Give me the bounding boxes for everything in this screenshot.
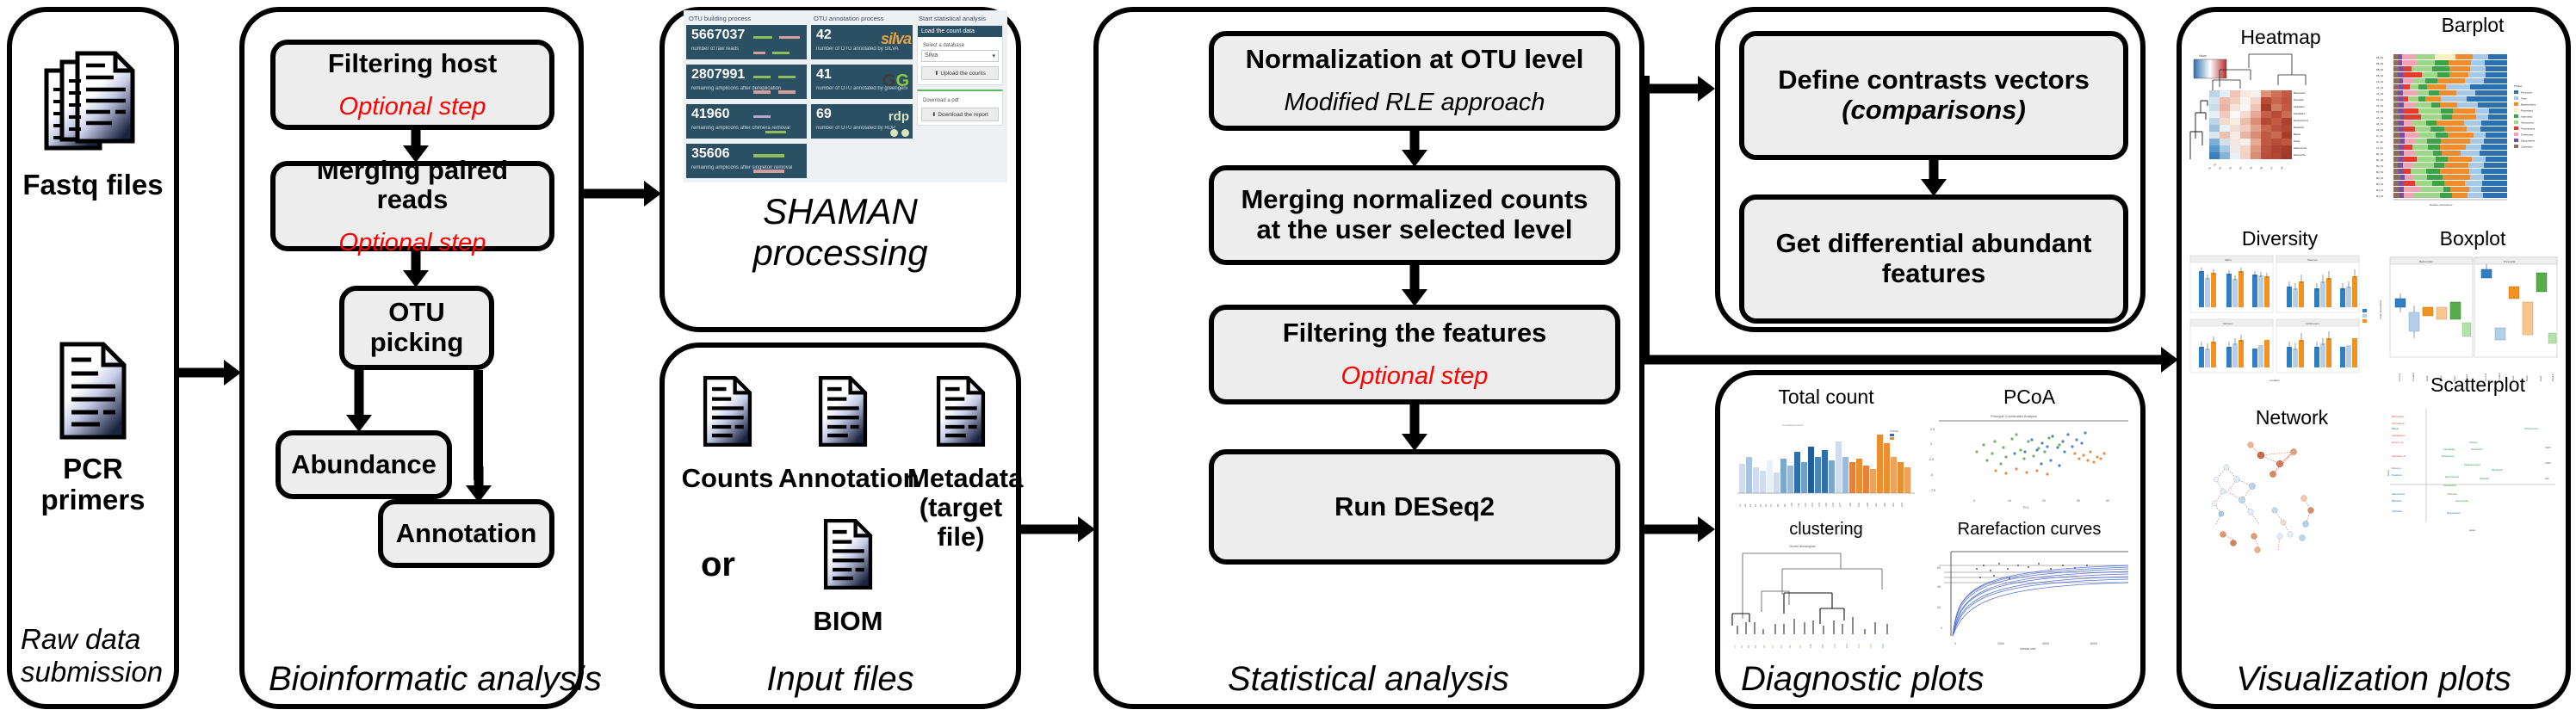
svg-text:Phylum: Phylum (2514, 84, 2523, 88)
svg-text:s13: s13 (1811, 503, 1814, 507)
svg-text:Bacteroides: Bacteroides (2392, 415, 2404, 418)
shaman-tile-bars (753, 70, 802, 101)
box-filtering-features-sub: Optional step (1341, 362, 1489, 390)
shaman-upload-button[interactable]: ⬆ Upload the counts (921, 66, 999, 80)
diagnostic-caption: Diagnostic plots (1720, 660, 2140, 699)
arrow-inputs-to-statistical (1021, 516, 1095, 542)
svg-text:TR_S2: TR_S2 (2376, 104, 2384, 108)
plot-clustering: clustering Cluster dendrogram (1731, 520, 1922, 657)
plot-total-count-title: Total count (1731, 386, 1922, 409)
plot-heatmap-title: Heatmap (2189, 26, 2373, 49)
plot-barplot-title: Barplot (2375, 14, 2571, 37)
svg-text:Akkermansia: Akkermansia (2294, 146, 2307, 150)
svg-text:s9: s9 (1783, 504, 1786, 508)
svg-text:s1: s1 (2208, 165, 2212, 170)
svg-text:Roseburia: Roseburia (2392, 473, 2402, 477)
shaman-tile: 2807991 remaining amplicons after derepl… (686, 65, 807, 99)
shaman-tile: 35606 remaining amplicons after singleto… (686, 144, 807, 178)
svg-text:Parabacteroides: Parabacteroides (2464, 463, 2481, 466)
shaman-screenshot: OTU building process 5667037 number of r… (684, 10, 1007, 182)
svg-text:PC1: PC1 (2023, 506, 2029, 509)
shaman-tile: 69 number of OTU annotated by RDP rdp (811, 104, 913, 139)
svg-text:M4_S1: M4_S1 (2376, 188, 2384, 192)
svg-text:s15: s15 (1869, 644, 1873, 648)
svg-text:Dorea: Dorea (2294, 139, 2300, 143)
fastq-files-label: Fastq files (12, 170, 174, 201)
svg-text:s1: s1 (1733, 645, 1737, 649)
svg-text:6000: 6000 (2090, 642, 2097, 645)
svg-text:Collinsella: Collinsella (2392, 509, 2402, 513)
shaman-download-panel: Download a pdf ⬇ Download the report (917, 89, 1003, 126)
box-annotation[interactable]: Annotation (378, 499, 554, 568)
svg-text:CAP1: CAP1 (2545, 446, 2551, 449)
plot-rarefaction: Rarefaction curves (1922, 520, 2137, 657)
svg-text:CK_S3: CK_S3 (2376, 92, 2384, 96)
svg-text:M4_S2: M4_S2 (2376, 194, 2384, 198)
svg-text:60: 60 (1937, 566, 1941, 570)
box-merging-normalized-counts-line2: at the user selected level (1256, 215, 1572, 245)
box-get-differential-features-line1: Get differential abundant (1776, 229, 2092, 259)
shaman-select-label: Select a database (923, 43, 997, 48)
svg-text:LF_S3: LF_S3 (2376, 146, 2383, 150)
arrow-rawdata-to-bioinformatic (179, 360, 241, 386)
svg-text:s2: s2 (1743, 504, 1747, 508)
box-run-deseq2[interactable]: Run DESeq2 (1209, 449, 1620, 565)
svg-text:PB_S4: PB_S4 (2376, 74, 2384, 77)
svg-text:s14: s14 (1817, 503, 1821, 507)
svg-text:s10: s10 (1809, 644, 1812, 648)
svg-text:s17: s17 (1838, 503, 1842, 507)
file-icon (50, 339, 136, 442)
panel-visualization-plots: Heatmap Value (2177, 7, 2571, 709)
svg-text:s5: s5 (1759, 504, 1762, 508)
plot-rarefaction-svg: 6040 200 02000 40006000 sample size (1922, 540, 2137, 650)
input-file-metadata-label-line2: (target file) (907, 493, 1014, 552)
plot-total-count-svg: normalized counts Group s1s2 s3s4 s5s6 s… (1731, 409, 1922, 510)
input-files-or-label: or (701, 546, 735, 584)
svg-text:s6: s6 (1764, 504, 1768, 508)
svg-text:Relative abundance: Relative abundance (2430, 203, 2453, 207)
svg-text:condition: condition (2269, 379, 2280, 382)
svg-text:normalized counts: normalized counts (1782, 423, 1804, 427)
arrow-to-annotation (466, 466, 492, 503)
box-otu-picking[interactable]: OTU picking (339, 286, 494, 370)
box-filtering-features-title: Filtering the features (1283, 318, 1547, 349)
svg-text:Firmicutes: Firmicutes (2521, 91, 2532, 95)
svg-text:s19: s19 (1857, 503, 1861, 507)
svg-text:Cluster dendrogram: Cluster dendrogram (1789, 545, 1816, 548)
box-abundance[interactable]: Abundance (276, 430, 452, 499)
input-file-biom: BIOM (792, 513, 904, 636)
svg-text:CK_S2: CK_S2 (2376, 86, 2384, 89)
svg-text:10: 10 (2008, 499, 2011, 503)
shaman-tile: 41960 remaining amplicons after chimera … (686, 104, 807, 139)
box-define-contrasts-line1: Define contrasts vectors (1778, 65, 2090, 96)
svg-text:score: score (2469, 528, 2475, 532)
svg-text:Blautia: Blautia (2294, 133, 2300, 136)
svg-text:Prevotella: Prevotella (2504, 260, 2516, 263)
svg-text:Simpson: Simpson (2223, 322, 2233, 325)
svg-text:40: 40 (2106, 499, 2109, 503)
svg-text:2.5: 2.5 (1930, 428, 1935, 431)
box-define-contrasts[interactable]: Define contrasts vectors (comparisons) (1739, 31, 2128, 160)
svg-text:s4: s4 (1754, 645, 1757, 649)
svg-text:s7: s7 (1780, 645, 1783, 649)
svg-text:s21: s21 (1874, 503, 1878, 507)
plot-scatterplot: Scatterplot BacteroidesPrevotella sp. La… (2387, 373, 2569, 571)
box-filtering-host[interactable]: Filtering host Optional step (270, 40, 554, 130)
svg-text:-7.5: -7.5 (1930, 489, 1935, 492)
svg-text:Odoribacter: Odoribacter (2471, 447, 2483, 451)
svg-text:s5: s5 (2249, 165, 2253, 170)
svg-text:M3_S1: M3_S1 (2376, 176, 2384, 180)
plot-clustering-svg: Cluster dendrogram (1731, 540, 1922, 650)
svg-text:M1_S1: M1_S1 (2376, 152, 2384, 156)
arrow-statistical-to-diagnostic (1644, 516, 1715, 542)
box-filtering-features[interactable]: Filtering the features Optional step (1209, 305, 1620, 404)
panel-diagnostic-plots: Total count (1715, 370, 2146, 709)
box-merging-normalized-counts[interactable]: Merging normalized counts at the user se… (1209, 165, 1620, 265)
svg-text:s2: s2 (2218, 165, 2222, 170)
svg-text:s14: s14 (1857, 644, 1861, 648)
svg-text:s15: s15 (1824, 503, 1828, 507)
arrow-bioinformatic-to-shaman (584, 181, 661, 207)
plot-heatmap: Heatmap Value (2189, 26, 2373, 224)
svg-text:Roseburia: Roseburia (2294, 126, 2304, 129)
svg-text:Haemophilus: Haemophilus (2455, 499, 2469, 503)
svg-text:40: 40 (1937, 585, 1941, 589)
svg-text:Ruminococcus: Ruminococcus (2294, 119, 2309, 122)
svg-text:Bacteroides: Bacteroides (2419, 260, 2433, 263)
svg-text:TR_S1: TR_S1 (2376, 98, 2384, 102)
box-get-differential-features-line2: features (1882, 259, 1986, 289)
svg-text:s1: s1 (1738, 504, 1742, 508)
svg-text:20: 20 (1937, 606, 1941, 609)
svg-text:-5: -5 (1930, 473, 1933, 477)
svg-text:CAP2: CAP2 (2545, 461, 2551, 465)
svg-text:Clostridium XI: Clostridium XI (2392, 454, 2406, 458)
svg-text:4000: 4000 (2042, 642, 2049, 645)
panel-contrasts: Define contrasts vectors (comparisons) G… (1715, 7, 2146, 332)
box-otu-picking-title: OTU picking (353, 298, 480, 357)
svg-text:s4: s4 (2239, 165, 2243, 170)
plot-barplot: Barplot (2375, 14, 2571, 224)
svg-text:s3: s3 (1749, 504, 1752, 508)
box-filtering-host-title: Filtering host (328, 49, 497, 79)
svg-text:M1_S2: M1_S2 (2376, 158, 2384, 162)
svg-text:Fusobacteria: Fusobacteria (2521, 127, 2536, 131)
svg-text:Megasphaera: Megasphaera (2447, 511, 2461, 515)
svg-text:s3: s3 (2228, 165, 2232, 170)
svg-text:Group: Group (1890, 429, 1898, 433)
shaman-left-column-title: OTU building process (689, 15, 807, 22)
svg-text:Other: Other (2521, 97, 2527, 101)
input-file-metadata: Metadata (target file) (907, 370, 1014, 552)
svg-text:Rumino. gp.: Rumino. gp. (2392, 441, 2404, 444)
svg-text:Prevotella: Prevotella (2294, 98, 2304, 102)
svg-text:Desulfovibrio: Desulfovibrio (2443, 484, 2457, 487)
box-abundance-title: Abundance (291, 450, 437, 480)
svg-text:Bacteroides: Bacteroides (2294, 91, 2306, 95)
plot-network-title: Network (2201, 406, 2383, 429)
plot-rarefaction-title: Rarefaction curves (1922, 520, 2137, 540)
svg-text:Bacteroidetes: Bacteroidetes (2521, 103, 2536, 107)
box-merging-paired-reads-title: Merging paired reads (284, 156, 541, 215)
svg-text:0: 0 (1954, 642, 1956, 645)
svg-text:s6: s6 (2259, 165, 2263, 170)
shaman-tile-bars (753, 149, 802, 180)
shaman-caption-line2: processing (665, 232, 1016, 274)
svg-text:2000: 2000 (1997, 642, 2004, 645)
svg-text:Cyanobact.: Cyanobact. (2521, 145, 2533, 149)
svg-text:Bifidobact.: Bifidobact. (2392, 499, 2402, 503)
svg-text:s8: s8 (1776, 504, 1780, 508)
box-merging-normalized-counts-line1: Merging normalized counts (1241, 185, 1588, 215)
arrow-merging-to-otu (403, 251, 429, 287)
svg-text:s7: s7 (1769, 504, 1773, 508)
shaman-database-select[interactable]: Silva ▾ (921, 50, 999, 62)
svg-text:s11: s11 (1821, 644, 1824, 648)
svg-text:Tenericutes: Tenericutes (2521, 133, 2534, 137)
svg-text:Alistipes: Alistipes (2469, 441, 2478, 444)
file-stack-icon (41, 46, 145, 158)
shaman-load-header: Load the count data (918, 26, 1002, 37)
svg-text:Lactobacillus: Lactobacillus (2392, 434, 2406, 437)
rdp-logo-icon: rdp (871, 109, 909, 141)
arrow-filtering-to-deseq (1402, 404, 1427, 451)
plot-heatmap-svg: Value (2189, 49, 2373, 218)
svg-text:LF_S1: LF_S1 (2376, 134, 2383, 138)
svg-text:Value: Value (2199, 54, 2207, 58)
file-icon (812, 370, 874, 453)
plot-scatterplot-title: Scatterplot (2387, 373, 2569, 397)
svg-text:s13: s13 (1845, 644, 1848, 648)
panel-bioinformatic-analysis: Filtering host Optional step Merging pai… (239, 7, 584, 709)
svg-text:0: 0 (1930, 442, 1932, 446)
plot-pcoa-svg: Principal Coordinates Analysis (1922, 409, 2137, 510)
arrow-to-visualization (1640, 347, 2178, 373)
svg-text:s4: s4 (1754, 504, 1757, 508)
svg-text:Akkermansia: Akkermansia (2392, 492, 2406, 496)
shaman-middle-column-title: OTU annotation process (814, 15, 913, 22)
svg-text:M3_S2: M3_S2 (2376, 182, 2384, 186)
input-file-metadata-label-line1: Metadata (907, 464, 1014, 493)
svg-text:Principal Coordinates Analysis: Principal Coordinates Analysis (1991, 414, 2037, 418)
svg-text:s11: s11 (1797, 503, 1800, 507)
svg-text:-2.5: -2.5 (1929, 458, 1934, 461)
svg-text:s9: s9 (1799, 645, 1802, 649)
box-normalization-sub: Modified RLE approach (1284, 89, 1545, 116)
svg-text:s2: s2 (1740, 645, 1743, 649)
svg-text:s8: s8 (1788, 645, 1792, 649)
shaman-download-header: Download a pdf (923, 98, 997, 103)
box-merging-paired-reads[interactable]: Merging paired reads Optional step (270, 161, 554, 251)
plot-boxplot-svg: Bacteroides Prevotella (2378, 250, 2567, 385)
svg-text:Shannon: Shannon (2307, 258, 2318, 262)
plot-diversity-title: Diversity (2187, 227, 2373, 250)
fastq-files-item: Fastq files (12, 46, 174, 201)
svg-text:Blautia: Blautia (2392, 427, 2399, 430)
svg-text:s23: s23 (1892, 503, 1895, 507)
arrow-otu-to-abundance (346, 370, 372, 432)
svg-text:s1: s1 (2213, 162, 2217, 166)
svg-text:sample size: sample size (2020, 647, 2036, 650)
svg-text:s12: s12 (1833, 644, 1836, 648)
plot-boxplot-title: Boxplot (2378, 227, 2567, 250)
plot-diversity-svg: Alpha (2187, 250, 2373, 385)
shaman-tile: 42 number of OTU annotated by SILVA silv… (811, 25, 913, 59)
box-define-contrasts-line2: (comparisons) (1842, 96, 2026, 126)
svg-text:PB_S2: PB_S2 (2376, 62, 2384, 65)
shaman-right-column-title: Start statistical analysis (919, 15, 1003, 22)
shaman-load-panel: Load the count data Select a database Si… (917, 25, 1003, 85)
input-file-biom-label: BIOM (792, 607, 904, 636)
svg-text:LF_S2: LF_S2 (2376, 140, 2383, 144)
panel-statistical-analysis: Normalization at OTU level Modified RLE … (1093, 7, 1644, 709)
svg-text:Log2 abundance: Log2 abundance (2379, 299, 2382, 319)
svg-text:Veillonella: Veillonella (2447, 492, 2457, 496)
plot-barplot-svg: PB_S1PB_S2PB_S3 PB_S4CK_S1CK_S2 CK_S3TR_… (2375, 37, 2571, 218)
svg-text:Barnesiella: Barnesiella (2492, 468, 2503, 472)
svg-text:Escherichia: Escherichia (2294, 153, 2306, 157)
svg-text:s7: s7 (2269, 165, 2274, 170)
plot-pcoa-title: PCoA (1922, 386, 2137, 409)
svg-text:s18: s18 (1848, 503, 1852, 507)
input-files-caption: Input files (665, 660, 1016, 699)
chevron-down-icon: ▾ (992, 52, 995, 59)
svg-text:M2_S1: M2_S1 (2376, 164, 2384, 168)
svg-text:TR_S3: TR_S3 (2376, 110, 2384, 114)
svg-text:HF_S3: HF_S3 (2376, 128, 2384, 132)
svg-text:score: score (2387, 470, 2390, 476)
svg-text:InvSimpson: InvSimpson (2306, 322, 2319, 325)
box-get-differential-features[interactable]: Get differential abundant features (1739, 194, 2128, 324)
svg-text:Verrucomicr.: Verrucomicr. (2521, 121, 2535, 125)
file-icon (697, 370, 759, 453)
shaman-upload-label: Upload the counts (940, 71, 985, 77)
visualization-caption: Visualization plots (2182, 660, 2566, 699)
svg-text:s8: s8 (2280, 165, 2284, 170)
svg-text:PB_S3: PB_S3 (2376, 68, 2384, 71)
svg-text:Faecalibact.: Faecalibact. (2443, 447, 2455, 451)
svg-text:s5: s5 (1762, 645, 1766, 649)
plot-clustering-title: clustering (1731, 520, 1922, 540)
svg-text:Faecalibact.: Faecalibact. (2294, 112, 2306, 115)
silva-logo-icon: silva (873, 30, 911, 48)
panel-input-files: Counts Annotation (659, 343, 1021, 709)
svg-text:s20: s20 (1866, 503, 1869, 507)
shaman-database-value: Silva (925, 52, 938, 59)
box-annotation-title: Annotation (396, 519, 537, 549)
plot-diversity: Diversity Alpha (2187, 227, 2373, 391)
input-file-counts: Counts (677, 370, 778, 552)
input-file-annotation-label: Annotation (778, 464, 907, 493)
svg-text:Actinobact.: Actinobact. (2521, 115, 2533, 119)
input-file-counts-label: Counts (677, 464, 778, 493)
svg-text:PB_S1: PB_S1 (2376, 56, 2384, 59)
svg-text:Clostridium: Clostridium (2294, 105, 2305, 108)
svg-text:axis: axis (2545, 477, 2549, 480)
shaman-download-button[interactable]: ⬇ Download the report (921, 108, 999, 121)
shaman-tile: 5667037 number of raw reads (686, 25, 807, 59)
svg-text:Prevotella sp.: Prevotella sp. (2392, 422, 2406, 425)
greengenes-logo-icon: GG (871, 71, 909, 91)
plot-network: Network (2201, 406, 2383, 604)
arrow-statistical-to-contrasts (1644, 76, 1715, 102)
box-run-deseq2-title: Run DESeq2 (1334, 492, 1495, 522)
panel-raw-data: Fastq files (7, 7, 179, 709)
svg-text:s16: s16 (1881, 644, 1885, 648)
arrow-normalization-to-merging (1402, 131, 1427, 167)
pcr-primers-label-line1: PCR (12, 454, 174, 485)
svg-text:Dorea sp.: Dorea sp. (2392, 466, 2402, 470)
svg-text:s12: s12 (1804, 503, 1807, 507)
svg-text:s10: s10 (1790, 503, 1793, 507)
svg-text:Sutterella: Sutterella (2480, 477, 2490, 480)
arrow-merging-to-filtering (1402, 265, 1427, 306)
connector-contrasts-to-visualization-v (1640, 76, 1650, 360)
raw-data-caption-line2: submission (21, 656, 174, 688)
svg-text:Proteobact.: Proteobact. (2521, 109, 2534, 113)
connector-otu-to-annotation (474, 370, 483, 480)
shaman-tile: 41 number of OTU annotated by greengenes… (811, 65, 913, 99)
svg-text:Streptococcus: Streptococcus (2524, 427, 2539, 430)
svg-text:M2_S2: M2_S2 (2376, 170, 2384, 174)
svg-text:Butyricimonas: Butyricimonas (2445, 475, 2460, 478)
svg-text:s3: s3 (1747, 645, 1750, 649)
box-normalization-title: Normalization at OTU level (1246, 45, 1584, 75)
workflow-diagram: Fastq files (0, 0, 2576, 716)
svg-text:HF_S2: HF_S2 (2376, 122, 2384, 126)
svg-text:0: 0 (1941, 626, 1942, 630)
plot-pcoa: PCoA Principal Coordinates Analysis (1922, 386, 2137, 515)
arrow-contrasts-to-differential (1921, 160, 1947, 196)
svg-text:30: 30 (2077, 499, 2080, 503)
plot-scatterplot-svg: BacteroidesPrevotella sp. LactobacillusR… (2387, 397, 2569, 565)
svg-text:s6: s6 (1771, 645, 1774, 649)
svg-text:0: 0 (1973, 499, 1975, 503)
shaman-caption-line1: SHAMAN (665, 191, 1016, 232)
box-normalization[interactable]: Normalization at OTU level Modified RLE … (1209, 31, 1620, 131)
box-filtering-host-sub: Optional step (339, 93, 486, 120)
file-icon (930, 370, 992, 453)
shaman-download-label: Download the report (938, 112, 988, 118)
svg-text:CK_S1: CK_S1 (2376, 80, 2384, 83)
panel-shaman-processing: OTU building process 5667037 number of r… (659, 7, 1021, 332)
svg-text:s16: s16 (1831, 503, 1835, 507)
statistical-caption: Statistical analysis (1099, 660, 1639, 699)
svg-text:Alpha: Alpha (2225, 258, 2232, 262)
plot-network-svg (2201, 429, 2383, 598)
svg-text:s24: s24 (1900, 503, 1904, 507)
svg-text:s22: s22 (1883, 503, 1886, 507)
svg-text:HF_S1: HF_S1 (2376, 116, 2384, 120)
pcr-primers-item: PCR primers (12, 339, 174, 516)
raw-data-caption-line1: Raw data (21, 623, 174, 656)
plot-total-count: Total count (1731, 386, 1922, 515)
svg-text:20: 20 (2042, 499, 2046, 503)
file-icon (817, 513, 879, 596)
bioinformatic-caption: Bioinformatic analysis (245, 660, 579, 699)
plot-boxplot: Boxplot Bacteroides Prevotella (2378, 227, 2567, 391)
pcr-primers-label-line2: primers (12, 485, 174, 515)
svg-text:Eubacterium: Eubacterium (2442, 454, 2455, 458)
svg-text:Spirochaetes: Spirochaetes (2521, 139, 2536, 143)
